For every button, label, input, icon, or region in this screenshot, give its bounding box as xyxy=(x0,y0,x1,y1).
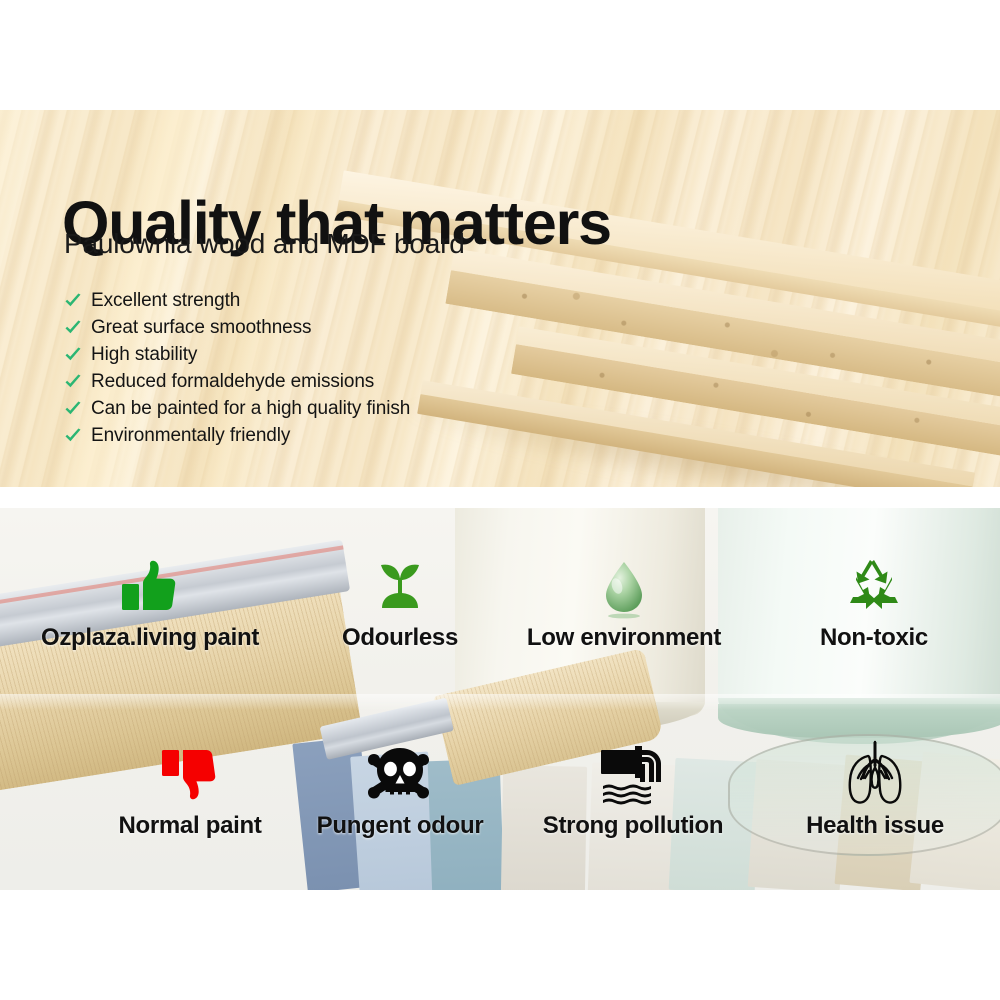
drawback-label: Normal paint xyxy=(118,812,261,840)
benefit-label: Ozplaza.living paint xyxy=(41,624,259,652)
thumbs-up-icon xyxy=(118,556,182,620)
drawback-label: Pungent odour xyxy=(317,812,484,840)
page-subtitle: Paulownia wood and MDF board xyxy=(64,228,465,260)
benefit-label: Odourless xyxy=(342,624,458,652)
comparison-panel: Ozplaza.living paint Odourless xyxy=(0,508,1000,890)
recycle-icon xyxy=(842,556,906,620)
lungs-icon xyxy=(843,738,907,808)
section-divider xyxy=(0,487,1000,508)
sprout-icon xyxy=(368,556,432,620)
icon-slot xyxy=(368,538,432,620)
check-icon xyxy=(64,292,82,310)
check-icon xyxy=(64,319,82,337)
drawback-cell-health-issue: Health issue xyxy=(750,726,1000,840)
benefit-cell-odourless: Odourless xyxy=(292,538,508,652)
drawback-cell-pungent-odour: Pungent odour xyxy=(275,726,525,840)
feature-item: High stability xyxy=(64,342,584,367)
feature-item: Reduced formaldehyde emissions xyxy=(64,369,584,394)
check-icon xyxy=(64,400,82,418)
icon-slot xyxy=(597,726,669,808)
feature-item: Environmentally friendly xyxy=(64,423,584,448)
product-infographic: Quality that matters Paulownia wood and … xyxy=(0,0,1000,1000)
benefit-icon-grid: Ozplaza.living paint Odourless xyxy=(0,508,1000,890)
drawback-label: Health issue xyxy=(806,812,944,840)
feature-item: Great surface smoothness xyxy=(64,315,584,340)
feature-item: Can be painted for a high quality finish xyxy=(64,396,584,421)
drawback-cell-strong-pollution: Strong pollution xyxy=(508,726,758,840)
feature-label: Great surface smoothness xyxy=(91,317,311,339)
icon-slot xyxy=(364,726,436,808)
feature-label: Environmentally friendly xyxy=(91,425,290,447)
icon-slot xyxy=(842,538,906,620)
feature-label: Excellent strength xyxy=(91,290,240,312)
benefit-cell-non-toxic: Non-toxic xyxy=(748,538,1000,652)
pipe-discharge-pollution-icon xyxy=(597,744,669,808)
benefit-cell-low-environment: Low environment xyxy=(500,538,748,652)
feature-item: Excellent strength xyxy=(64,288,584,313)
drawback-label: Strong pollution xyxy=(543,812,724,840)
icon-slot xyxy=(158,726,222,808)
feature-label: Can be painted for a high quality finish xyxy=(91,398,410,420)
icon-slot xyxy=(843,726,907,808)
feature-label: Reduced formaldehyde emissions xyxy=(91,371,374,393)
thumbs-down-icon xyxy=(158,744,222,808)
check-icon xyxy=(64,346,82,364)
icon-slot xyxy=(118,538,182,620)
benefit-label: Low environment xyxy=(527,624,721,652)
feature-list: Excellent strength Great surface smoothn… xyxy=(64,288,584,450)
check-icon xyxy=(64,373,82,391)
water-drop-icon xyxy=(592,556,656,620)
feature-label: High stability xyxy=(91,344,197,366)
icon-slot xyxy=(592,538,656,620)
benefit-cell-ozplaza-paint: Ozplaza.living paint xyxy=(0,538,300,652)
skull-crossbones-icon xyxy=(364,744,436,808)
benefit-label: Non-toxic xyxy=(820,624,928,652)
check-icon xyxy=(64,427,82,445)
